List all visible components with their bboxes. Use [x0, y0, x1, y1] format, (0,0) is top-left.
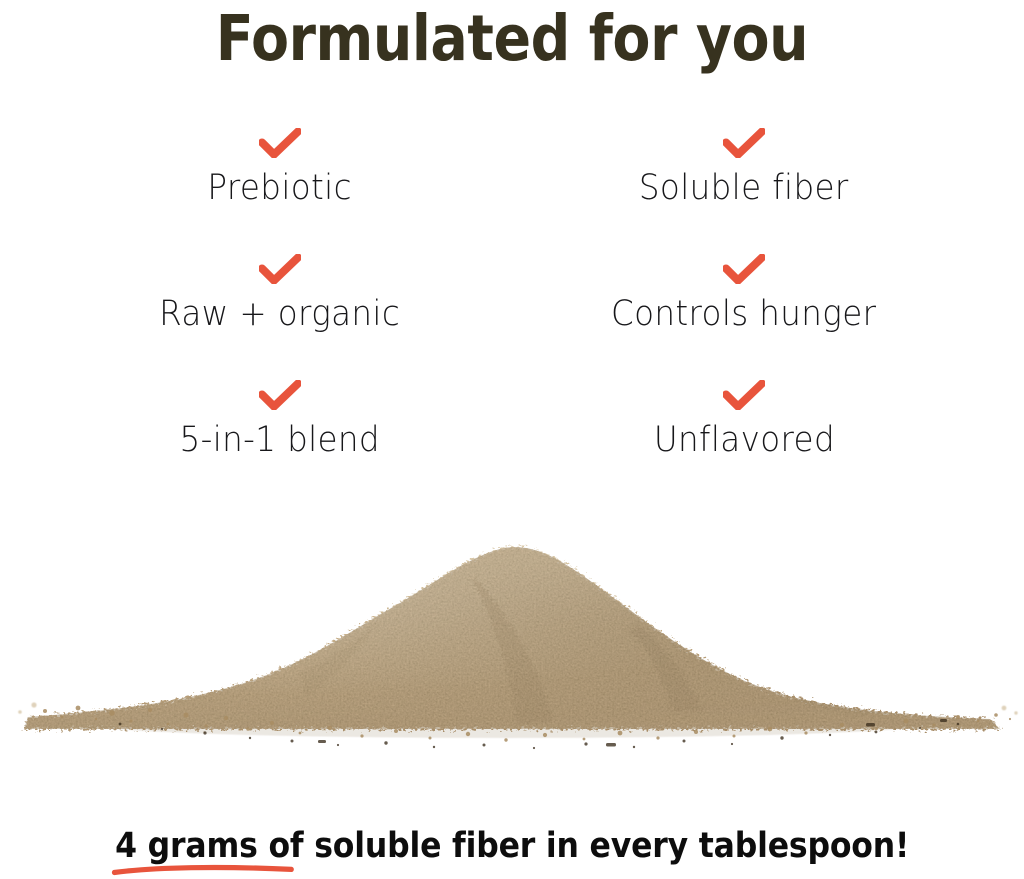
- check-icon: [259, 254, 301, 284]
- benefit-label: Unflavored: [653, 420, 834, 460]
- caption-rest: of soluble fiber in every tablespoon!: [257, 826, 909, 866]
- check-icon: [259, 128, 301, 158]
- benefit-item-unflavored: Unflavored: [526, 380, 962, 506]
- caption-text: 4 grams of soluble fiber in every tables…: [115, 826, 909, 866]
- benefit-label: Controls hunger: [611, 294, 876, 334]
- benefit-label: Raw + organic: [159, 294, 400, 334]
- benefit-item-raw-organic: Raw + organic: [62, 254, 498, 380]
- caption-highlight: 4 grams: [115, 826, 258, 866]
- benefit-label: 5-in-1 blend: [180, 420, 380, 460]
- page-title: Formulated for you: [61, 4, 962, 75]
- benefit-item-controls-hunger: Controls hunger: [526, 254, 962, 380]
- check-icon: [723, 254, 765, 284]
- marketing-infographic: Formulated for you Prebiotic Soluble fib…: [0, 0, 1024, 879]
- benefit-item-prebiotic: Prebiotic: [62, 128, 498, 254]
- check-icon: [723, 128, 765, 158]
- benefit-label: Prebiotic: [208, 168, 352, 208]
- check-icon: [259, 380, 301, 410]
- check-icon: [723, 380, 765, 410]
- footer-caption: 4 grams of soluble fiber in every tables…: [0, 826, 1024, 866]
- powder-pile-photo: [0, 505, 1024, 790]
- caption-highlight-text: 4 grams: [115, 826, 258, 866]
- benefits-grid: Prebiotic Soluble fiber Raw + organic: [62, 128, 962, 506]
- benefit-item-5-in-1-blend: 5-in-1 blend: [62, 380, 498, 506]
- benefit-label: Soluble fiber: [639, 168, 849, 208]
- benefit-item-soluble-fiber: Soluble fiber: [526, 128, 962, 254]
